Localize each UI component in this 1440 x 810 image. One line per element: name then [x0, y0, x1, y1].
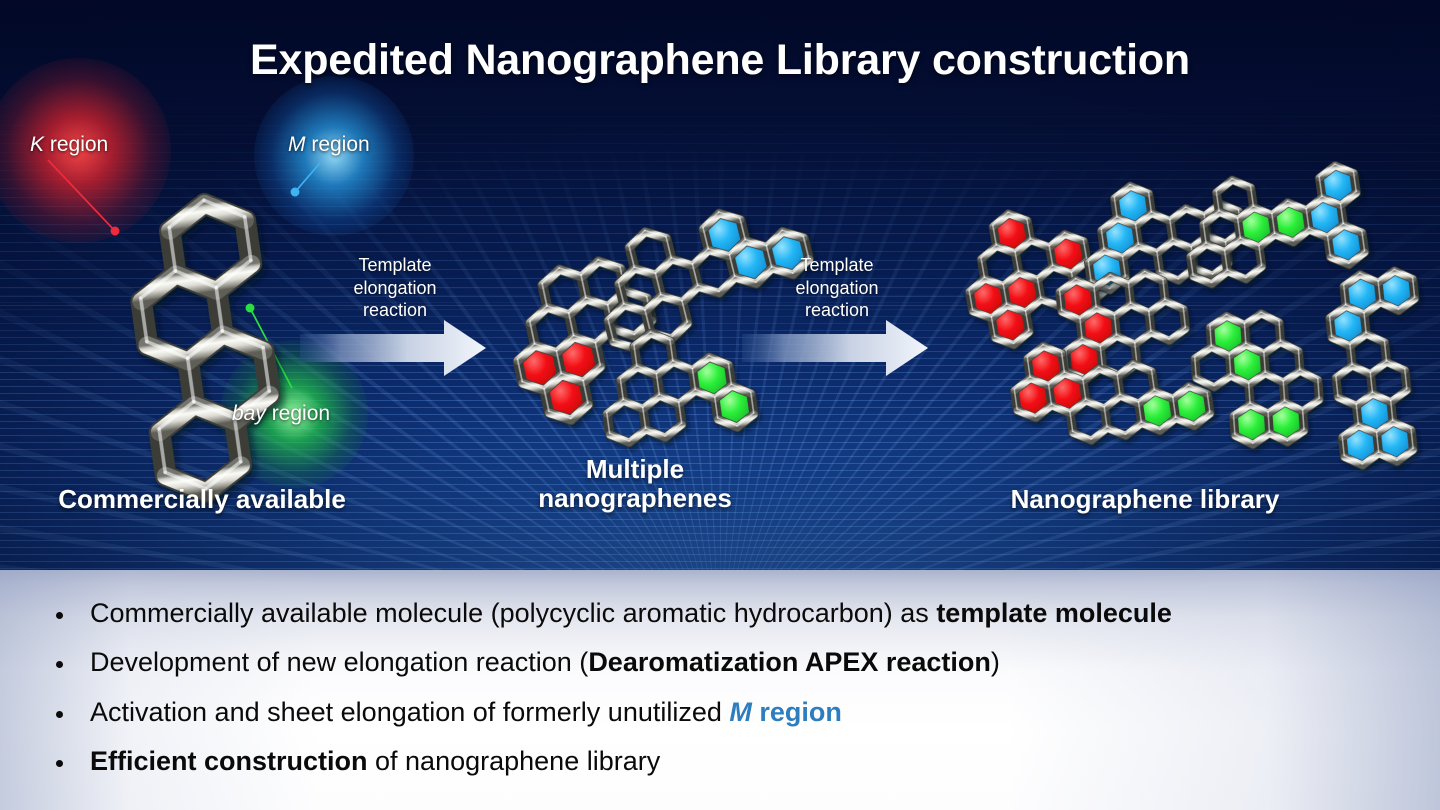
- stage-caption-commercially-available: Commercially available: [32, 485, 372, 514]
- bullet-dot-icon: [56, 661, 63, 668]
- library-molecule-7: [1325, 268, 1431, 467]
- arrow-label-2: Template elongation reaction: [742, 254, 932, 322]
- bullet-dot-icon: [56, 612, 63, 619]
- bullet-m-region-italic: M: [729, 697, 752, 727]
- arrow-label-2-line2: elongation: [742, 277, 932, 300]
- label-m-region-rest: region: [306, 133, 370, 156]
- stage-caption-2-line1: Multiple: [500, 455, 770, 484]
- graphic-panel: Expedited Nanographene Library construct…: [0, 0, 1440, 570]
- label-bay-region-italic: bay: [232, 402, 266, 425]
- list-item: Commercially available molecule (polycyc…: [44, 598, 1414, 629]
- label-m-region: M region: [288, 133, 370, 157]
- bond: [1244, 314, 1262, 325]
- page-title: Expedited Nanographene Library construct…: [0, 36, 1440, 85]
- arrow-label-1-line1: Template: [300, 254, 490, 277]
- list-item: Efficient construction of nanographene l…: [44, 746, 1414, 777]
- library-molecule-3: [1059, 268, 1190, 382]
- stage-caption-nanographene-library: Nanographene library: [960, 485, 1330, 514]
- bullet-bold-text: Efficient construction: [90, 746, 368, 776]
- bullet-dot-icon: [56, 760, 63, 767]
- bullet-text: Commercially available molecule (polycyc…: [90, 598, 936, 628]
- bullet-dot-icon: [56, 711, 63, 718]
- leader-line-m-region: [291, 163, 320, 196]
- stage-caption-1-line1: Commercially available: [32, 485, 372, 514]
- stage-caption-3-line1: Nanographene library: [960, 485, 1330, 514]
- arrow-label-1: Template elongation reaction: [300, 254, 490, 322]
- arrow-label-2-line3: reaction: [742, 299, 932, 322]
- slide: Expedited Nanographene Library construct…: [0, 0, 1440, 810]
- leader-line-k-region: [48, 160, 119, 235]
- bullets-panel: Commercially available molecule (polycyc…: [0, 570, 1440, 810]
- bullet-bold-text: Dearomatization APEX reaction: [588, 647, 991, 677]
- label-m-region-italic: M: [288, 133, 306, 156]
- label-k-region-rest: region: [44, 133, 108, 156]
- bullet-list: Commercially available molecule (polycyc…: [44, 598, 1414, 795]
- bullet-bold-text: template molecule: [936, 598, 1172, 628]
- arrow-label-1-line3: reaction: [300, 299, 490, 322]
- bullet-text: ): [991, 647, 1000, 677]
- library-molecule-5: [1181, 162, 1367, 287]
- arrow-label-1-line2: elongation: [300, 277, 490, 300]
- template-molecule: [128, 195, 281, 498]
- bullet-m-region-text: region: [752, 697, 842, 727]
- arrow-label-2-line1: Template: [742, 254, 932, 277]
- list-item: Activation and sheet elongation of forme…: [44, 697, 1414, 728]
- bullet-text: Development of new elongation reaction (: [90, 647, 588, 677]
- label-k-region: K region: [30, 133, 108, 157]
- label-bay-region-rest: region: [266, 402, 330, 425]
- list-item: Development of new elongation reaction (…: [44, 647, 1414, 678]
- bullet-text: of nanographene library: [368, 746, 661, 776]
- stage-caption-multiple-nanographenes: Multiple nanographenes: [500, 455, 770, 514]
- stage-caption-2-line2: nanographenes: [500, 484, 770, 513]
- arrow-template-elongation-2: [742, 320, 928, 376]
- bond: [1194, 347, 1212, 358]
- arrow-template-elongation-1: [300, 320, 486, 376]
- bullet-text: Activation and sheet elongation of forme…: [90, 697, 729, 727]
- label-k-region-italic: K: [30, 133, 44, 156]
- library-molecule-6: [1192, 309, 1322, 449]
- label-bay-region: bay region: [232, 402, 330, 426]
